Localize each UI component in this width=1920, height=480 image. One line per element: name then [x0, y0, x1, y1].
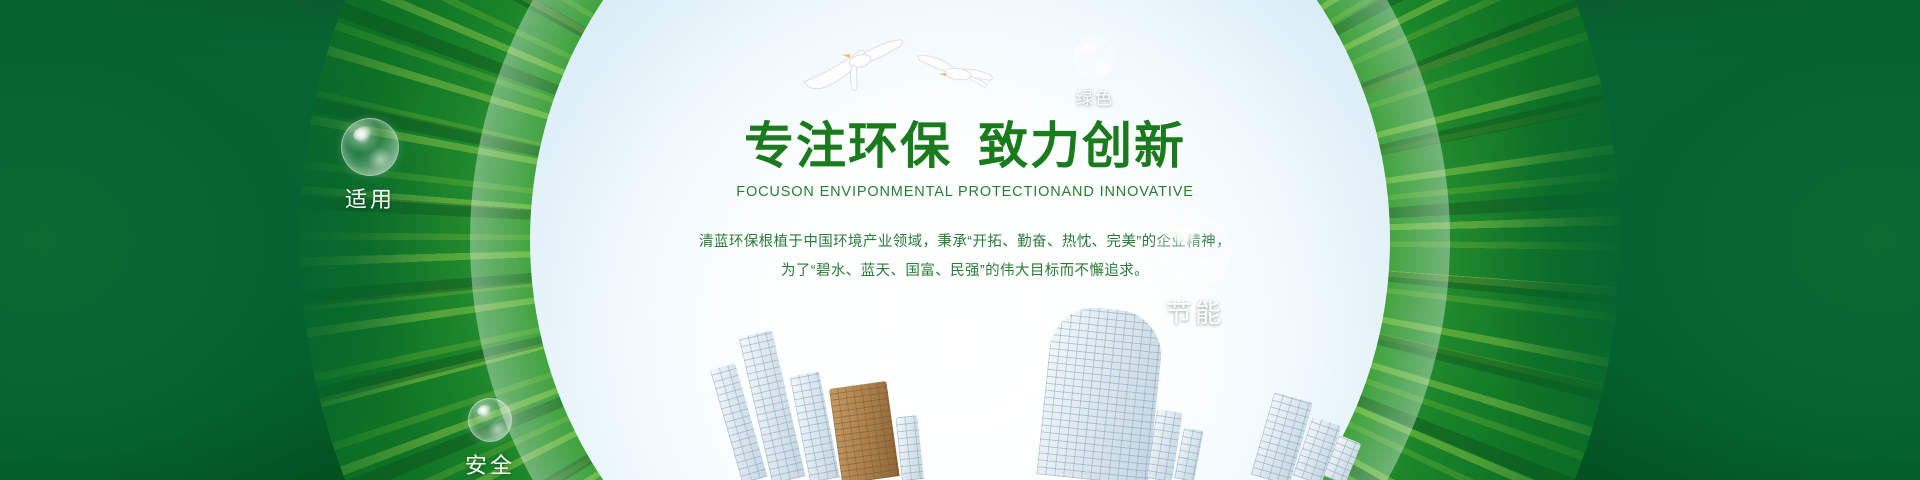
promo-banner: 专注环保致力创新 FOCUSON ENVIPONMENTAL PROTECTIO…	[0, 0, 1920, 480]
headline-part-2: 致力创新	[978, 118, 1186, 174]
seagull-icon-right	[912, 48, 996, 101]
callout-label-anquan: 安全	[430, 448, 550, 480]
callout-label-lvse: 绿色	[1040, 84, 1150, 109]
seagull-icon-left	[800, 34, 906, 101]
bubble-icon	[468, 398, 512, 442]
callout-jieneng: 节能	[1130, 215, 1260, 330]
callout-lvse: 绿色	[1040, 36, 1150, 109]
callout-anquan: 安全	[430, 398, 550, 480]
headline-part-1: 专注环保	[744, 118, 952, 174]
bubble-icon	[1159, 215, 1231, 287]
subtitle-english: FOCUSON ENVIPONMENTAL PROTECTIONAND INNO…	[585, 184, 1345, 200]
page-title: 专注环保致力创新	[585, 118, 1345, 174]
bubble-icon	[1074, 36, 1116, 78]
bubble-icon	[341, 118, 399, 176]
callout-label-shiyong: 适用	[310, 182, 430, 214]
callout-shiyong: 适用	[310, 118, 430, 214]
callout-label-jieneng: 节能	[1130, 293, 1260, 330]
